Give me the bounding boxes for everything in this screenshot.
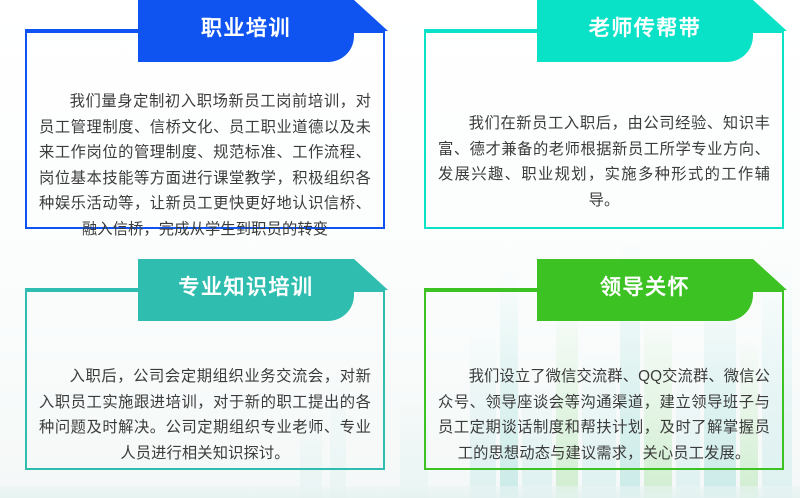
ribbon-fold-icon	[354, 259, 388, 290]
ribbon-fold-icon	[753, 0, 787, 31]
panel-professional-knowledge-training: 专业知识培训 入职后，公司会定期组织业务交流会，对新入职员工实施跟进培训，对于新…	[25, 259, 385, 498]
panel-body-text: 我们在新员工入职后，由公司经验、知识丰富、德才兼备的老师根据新员工所学专业方向、…	[438, 111, 770, 213]
panel-top-rail-left	[25, 288, 140, 290]
panel-body-text: 入职后，公司会定期组织业务交流会，对新入职员工实施跟进培训，对于新的职工提出的各…	[39, 364, 371, 466]
panel-title-ribbon: 领导关怀	[537, 259, 753, 321]
panel-teacher-mentoring: 老师传帮带 我们在新员工入职后，由公司经验、知识丰富、德才兼备的老师根据新员工所…	[424, 0, 784, 240]
panel-title-ribbon: 职业培训	[138, 0, 354, 62]
panel-top-rail-left	[424, 29, 539, 31]
panel-title-ribbon: 专业知识培训	[138, 259, 354, 321]
panel-body-text: 我们量身定制初入职场新员工岗前培训，对员工管理制度、信桥文化、员工职业道德以及未…	[39, 89, 371, 242]
ribbon-fold-icon	[354, 0, 388, 31]
panel-top-rail-left	[424, 288, 539, 290]
ribbon-fold-icon	[753, 259, 787, 290]
panel-title-ribbon: 老师传帮带	[537, 0, 753, 62]
panel-grid: 职业培训 我们量身定制初入职场新员工岗前培训，对员工管理制度、信桥文化、员工职业…	[0, 0, 800, 498]
panel-title: 老师传帮带	[589, 18, 702, 39]
panel-leadership-care: 领导关怀 我们设立了微信交流群、QQ交流群、微信公众号、领导座谈会等沟通渠道，建…	[424, 259, 784, 498]
panel-body-text: 我们设立了微信交流群、QQ交流群、微信公众号、领导座谈会等沟通渠道，建立领导班子…	[438, 364, 770, 466]
panel-top-rail-left	[25, 29, 140, 31]
panel-title: 专业知识培训	[179, 277, 314, 298]
panel-title: 领导关怀	[600, 277, 690, 298]
panel-career-training: 职业培训 我们量身定制初入职场新员工岗前培训，对员工管理制度、信桥文化、员工职业…	[25, 0, 385, 240]
panel-title: 职业培训	[201, 18, 291, 39]
